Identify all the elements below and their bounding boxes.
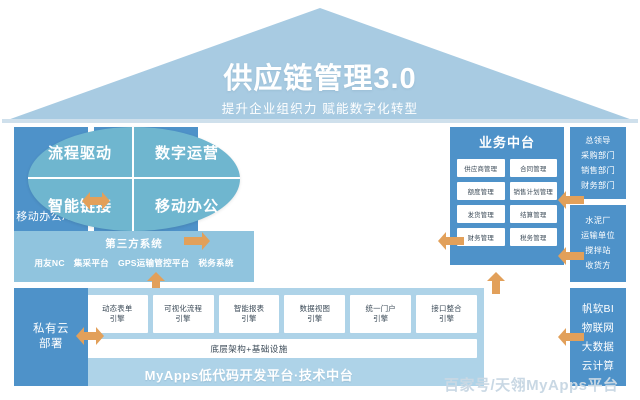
engine-unified-portal-l1: 统一门户 [366, 304, 396, 313]
arrow-platform-to-tech [558, 326, 584, 348]
arrow-business-to-parties [558, 245, 584, 267]
engine-data-view-l1: 数据视图 [300, 304, 330, 313]
tech-item-bigdata[interactable]: 大数据 [582, 341, 614, 353]
private-cloud-line2: 部署 [33, 337, 69, 352]
capability-digital-operation[interactable]: 数字运营 [134, 127, 240, 179]
capability-mobile-office[interactable]: 移动办公 [134, 179, 240, 231]
business-cell-tax-management[interactable]: 税务管理 [510, 228, 558, 246]
capability-smart-link[interactable]: 智能链接 [28, 179, 134, 231]
private-cloud-line1: 私有云 [33, 322, 69, 337]
party-item-cement-plant[interactable]: 水泥厂 [585, 216, 610, 226]
business-cell-shipment-management[interactable]: 发货管理 [457, 205, 505, 223]
arrow-service-to-center [184, 230, 210, 252]
engine-data-view-l2: 引擎 [307, 314, 322, 323]
third-party-list: 用友NC 集采平台 GPS运输管控平台 税务系统 [14, 257, 254, 269]
page-title: 供应链管理3.0 [0, 62, 640, 96]
platform-footer-title: MyApps低代码开发平台·技术中台 [21, 365, 477, 384]
arrow-cloud-to-platform [76, 324, 104, 348]
engine-unified-portal[interactable]: 统一门户 引擎 [350, 295, 411, 333]
engine-dynamic-form-l2: 引擎 [110, 314, 125, 323]
party-item-transport-unit[interactable]: 运输单位 [581, 231, 615, 241]
business-center-title: 业务中台 [457, 135, 557, 151]
third-party-systems-panel: 第三方系统 用友NC 集采平台 GPS运输管控平台 税务系统 [14, 231, 254, 282]
business-cell-finance-management[interactable]: 财务管理 [457, 228, 505, 246]
business-cell-settlement-management[interactable]: 结算管理 [510, 205, 558, 223]
business-cell-sales-plan-management[interactable]: 销售计划管理 [510, 182, 558, 200]
engine-api-integration[interactable]: 接口整合 引擎 [416, 295, 477, 333]
business-cell-quota-management[interactable]: 额度管理 [457, 182, 505, 200]
supply-chain-architecture-diagram: 供应链管理3.0 提升企业组织力 赋能数字化转型 PC 微信 移动办公APP 小… [0, 0, 640, 400]
dept-item-general-leader[interactable]: 总领导 [585, 136, 610, 146]
tech-item-iot[interactable]: 物联网 [582, 322, 614, 334]
private-cloud-label: 私有云 部署 [33, 322, 69, 352]
roof-banner: 供应链管理3.0 提升企业组织力 赋能数字化转型 [0, 6, 640, 124]
third-party-item-yonyou-nc[interactable]: 用友NC [34, 257, 64, 269]
third-party-item-tax-system[interactable]: 税务系统 [198, 257, 233, 269]
arrow-business-to-departments [558, 189, 584, 211]
bottom-band: 私有云 部署 组织用户 引擎 动态表单 引擎 [14, 288, 626, 386]
core-capability-group: 流程驱动 数字运营 智能链接 移动办公 第三方系统 用友NC 集采平台 GPS运… [14, 127, 254, 282]
tech-item-cloud-computing[interactable]: 云计算 [582, 360, 614, 372]
engine-data-view[interactable]: 数据视图 引擎 [284, 295, 345, 333]
engine-smart-report-l2: 引擎 [241, 314, 256, 323]
capability-grid: 流程驱动 数字运营 智能链接 移动办公 [28, 127, 240, 231]
third-party-item-gps-transport-platform[interactable]: GPS运输管控平台 [118, 257, 190, 269]
arrow-center-to-business [438, 230, 464, 252]
engine-api-integration-l2: 引擎 [439, 314, 454, 323]
engine-visual-process-l1: 可视化流程 [164, 304, 202, 313]
middle-band: PC 微信 移动办公APP 小程序 服务中台 统一门户 流程中心 报表中心 消息… [14, 127, 626, 282]
engine-unified-portal-l2: 引擎 [373, 314, 388, 323]
engine-dynamic-form-l1: 动态表单 [102, 304, 132, 313]
business-cell-supplier-management[interactable]: 供应商管理 [457, 159, 505, 177]
third-party-item-procurement-platform[interactable]: 集采平台 [74, 257, 109, 269]
business-cell-contract-management[interactable]: 合同管理 [510, 159, 558, 177]
arrow-terminals-to-service [82, 189, 110, 213]
capability-process-driven[interactable]: 流程驱动 [28, 127, 134, 179]
party-item-consignee[interactable]: 收货方 [585, 261, 610, 271]
sidebar-external-parties: 水泥厂 运输单位 搅拌站 收货方 [570, 205, 626, 282]
dept-item-purchasing[interactable]: 采购部门 [581, 151, 615, 161]
dept-item-sales[interactable]: 销售部门 [581, 166, 615, 176]
dept-item-finance[interactable]: 财务部门 [581, 181, 615, 191]
tech-item-finereport-bi[interactable]: 帆软BI [582, 303, 614, 315]
business-center-grid: 供应商管理 合同管理 额度管理 销售计划管理 发货管理 结算管理 财务管理 税务… [457, 159, 557, 246]
third-party-title: 第三方系统 [14, 236, 254, 251]
business-center-panel: 业务中台 供应商管理 合同管理 额度管理 销售计划管理 发货管理 结算管理 财务… [450, 127, 564, 265]
engine-api-integration-l1: 接口整合 [431, 304, 461, 313]
engine-visual-process[interactable]: 可视化流程 引擎 [153, 295, 214, 333]
engine-smart-report[interactable]: 智能报表 引擎 [219, 295, 280, 333]
party-item-mixing-station[interactable]: 搅拌站 [585, 246, 610, 256]
engine-visual-process-l2: 引擎 [176, 314, 191, 323]
engine-smart-report-l1: 智能报表 [234, 304, 264, 313]
page-subtitle: 提升企业组织力 赋能数字化转型 [0, 101, 640, 117]
